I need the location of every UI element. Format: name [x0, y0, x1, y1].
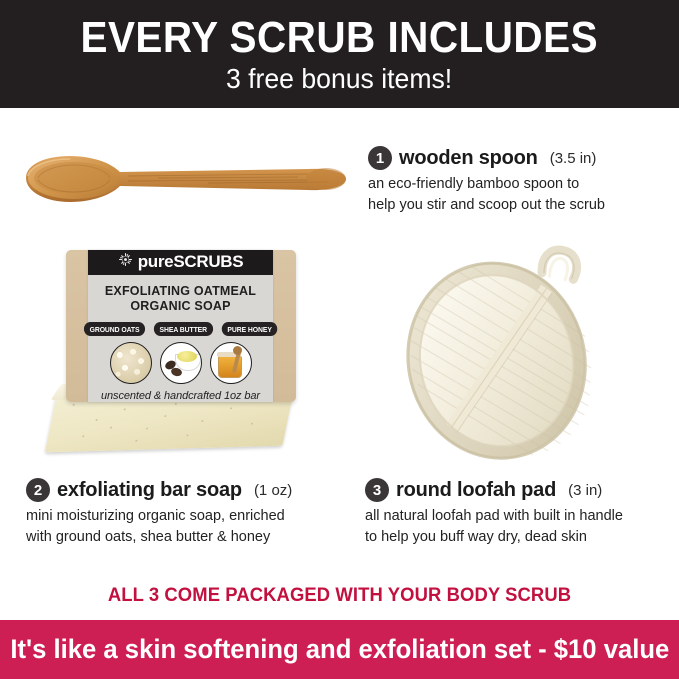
soap-speck — [135, 440, 137, 442]
item-1-number-badge: 1 — [368, 146, 392, 170]
soap-speck — [201, 420, 203, 422]
soap-speck — [251, 423, 253, 425]
soap-label-footer: unscented & handcrafted 1oz bar — [101, 390, 260, 402]
item-2-heading: 2 exfoliating bar soap (1 oz) — [26, 478, 292, 502]
packaged-note: ALL 3 COME PACKAGED WITH YOUR BODY SCRUB — [10, 585, 669, 607]
pill-shea-butter: SHEA BUTTER — [154, 322, 213, 336]
item-1-text-block: 1 wooden spoon (3.5 in) an eco-friendly … — [368, 146, 605, 215]
soap-kraft-box: pureSCRUBS EXFOLIATING OATMEAL ORGANIC S… — [66, 250, 296, 402]
item-3-size: (3 in) — [568, 482, 602, 499]
wooden-spoon-image — [8, 146, 353, 212]
loofah-pad-image — [392, 238, 607, 463]
item-1-description: an eco-friendly bamboo spoon to help you… — [368, 174, 605, 215]
soap-speck — [124, 408, 126, 410]
item-2-title: exfoliating bar soap — [57, 479, 242, 502]
bar-soap-image: pureSCRUBS EXFOLIATING OATMEAL ORGANIC S… — [48, 240, 316, 465]
item-2-text-block: 2 exfoliating bar soap (1 oz) mini moist… — [26, 478, 292, 547]
item-1-desc-line-1: an eco-friendly bamboo spoon to — [368, 174, 605, 195]
soap-label-brandbar: pureSCRUBS — [88, 250, 273, 275]
soap-ingredient-pills: GROUND OATS SHEA BUTTER PURE HONEY — [82, 322, 279, 336]
item-2-description: mini moisturizing organic soap, enriched… — [26, 506, 292, 547]
soap-speck — [186, 434, 188, 436]
item-2-desc-line-1: mini moisturizing organic soap, enriched — [26, 506, 292, 527]
soap-product-label: pureSCRUBS EXFOLIATING OATMEAL ORGANIC S… — [88, 250, 273, 402]
soap-speck — [110, 427, 112, 429]
pill-pure-honey: PURE HONEY — [221, 322, 277, 336]
soap-speck — [230, 407, 232, 409]
item-3-text-block: 3 round loofah pad (3 in) all natural lo… — [365, 478, 623, 547]
item-3-description: all natural loofah pad with built in han… — [365, 506, 623, 547]
soap-brand-name: pureSCRUBS — [138, 252, 244, 272]
item-1-heading: 1 wooden spoon (3.5 in) — [368, 146, 605, 170]
soap-speck — [146, 428, 148, 430]
item-3-desc-line-2: to help you buff way dry, dead skin — [365, 527, 623, 548]
soap-label-heading: EXFOLIATING OATMEAL ORGANIC SOAP — [105, 284, 256, 315]
item-3-number-badge: 3 — [365, 478, 389, 502]
item-2-size: (1 oz) — [254, 482, 292, 499]
soap-heading-line-2: ORGANIC SOAP — [105, 299, 256, 314]
item-2-desc-line-2: with ground oats, shea butter & honey — [26, 527, 292, 548]
soap-speck — [175, 403, 177, 405]
mandala-icon — [118, 252, 133, 272]
header-title: EVERY SCRUB INCLUDES — [81, 16, 599, 60]
item-3-desc-line-1: all natural loofah pad with built in han… — [365, 506, 623, 527]
soap-speck — [95, 419, 97, 421]
header-subtitle: 3 free bonus items! — [226, 65, 452, 93]
soap-speck — [164, 415, 166, 417]
item-3-heading: 3 round loofah pad (3 in) — [365, 478, 623, 502]
value-banner-text: It's like a skin softening and exfoliati… — [10, 634, 669, 665]
value-banner: It's like a skin softening and exfoliati… — [0, 620, 679, 679]
item-1-size: (3.5 in) — [550, 150, 597, 167]
infographic-page: EVERY SCRUB INCLUDES 3 free bonus items! — [0, 0, 679, 679]
pill-ground-oats: GROUND OATS — [84, 322, 145, 336]
item-3-title: round loofah pad — [396, 479, 556, 502]
soap-speck — [82, 435, 84, 437]
oats-icon — [110, 342, 152, 384]
item-2-number-badge: 2 — [26, 478, 50, 502]
shea-butter-icon — [160, 342, 202, 384]
honey-icon — [210, 342, 252, 384]
soap-heading-line-1: EXFOLIATING OATMEAL — [105, 284, 256, 299]
soap-speck — [72, 404, 74, 406]
header-banner: EVERY SCRUB INCLUDES 3 free bonus items! — [0, 0, 679, 108]
soap-ingredient-images — [110, 342, 252, 384]
item-1-desc-line-2: help you stir and scoop out the scrub — [368, 195, 605, 216]
item-1-title: wooden spoon — [399, 147, 538, 170]
